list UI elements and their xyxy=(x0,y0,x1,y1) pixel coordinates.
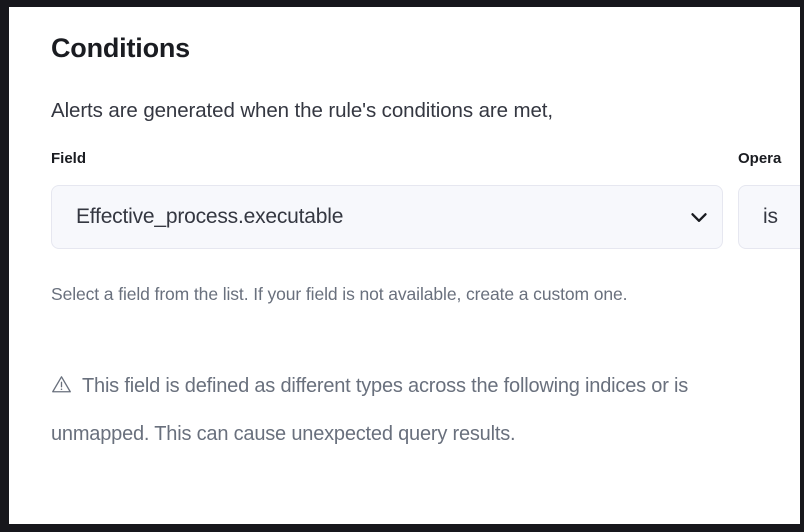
screenshot-frame: Conditions Alerts are generated when the… xyxy=(0,0,804,532)
warning-triangle-icon xyxy=(51,374,72,395)
field-form-group: Field Effective_process.executable xyxy=(51,151,723,249)
condition-form-row: Field Effective_process.executable Opera… xyxy=(9,151,800,271)
operator-form-group: Opera is xyxy=(738,151,800,249)
page-title: Conditions xyxy=(51,33,190,64)
field-select-value: Effective_process.executable xyxy=(52,205,676,229)
operator-select-value: is xyxy=(739,205,800,229)
field-type-warning: This field is defined as different types… xyxy=(51,362,701,458)
field-label: Field xyxy=(51,151,723,168)
field-type-warning-text: This field is defined as different types… xyxy=(51,375,688,445)
panel-subtitle: Alerts are generated when the rule's con… xyxy=(51,99,553,123)
chevron-down-icon[interactable] xyxy=(676,204,722,230)
conditions-panel: Conditions Alerts are generated when the… xyxy=(9,7,800,524)
field-helper-text: Select a field from the list. If your fi… xyxy=(51,279,691,310)
field-select[interactable]: Effective_process.executable xyxy=(51,185,723,249)
operator-select[interactable]: is xyxy=(738,185,800,249)
operator-label: Opera xyxy=(738,151,800,168)
